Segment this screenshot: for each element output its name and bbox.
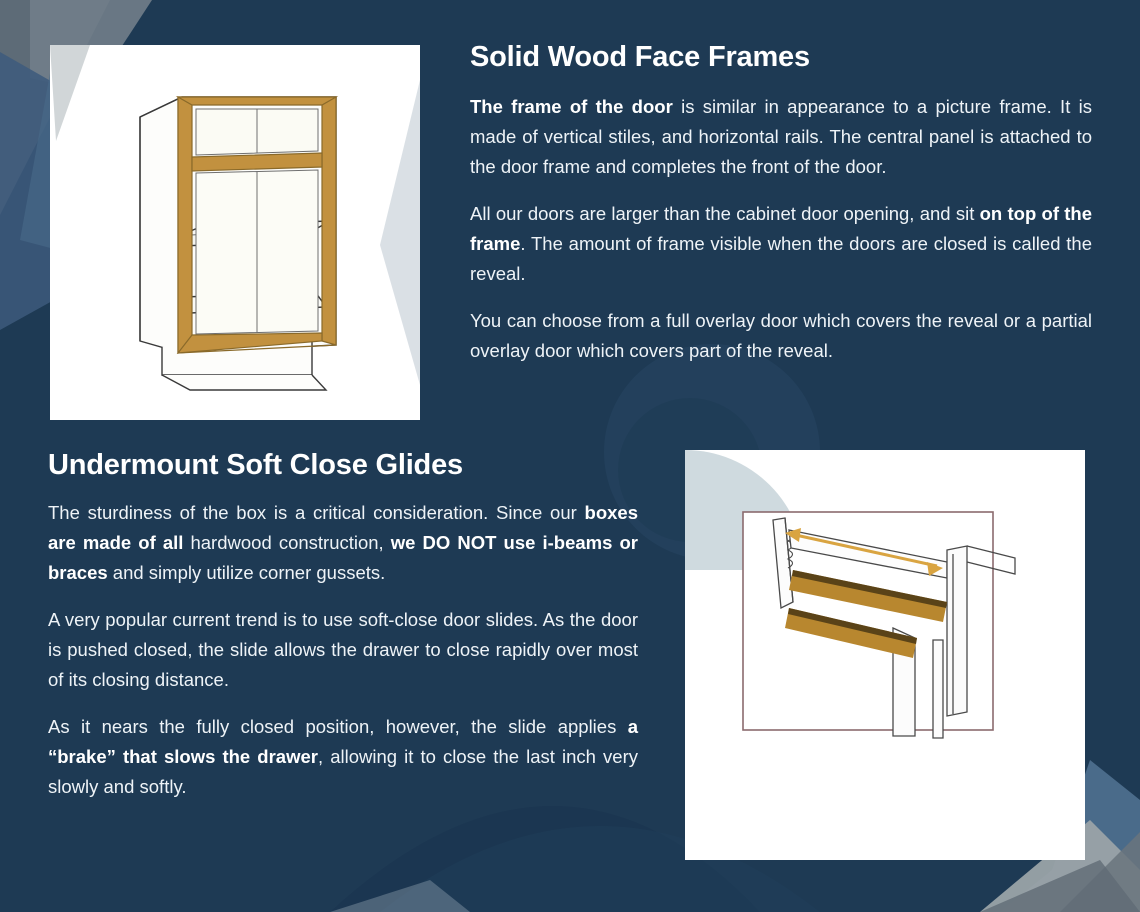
undermount-glide-image [685, 450, 1085, 860]
plain-text: As it nears the fully closed position, h… [48, 716, 628, 737]
face-frame-left-stile [178, 97, 192, 353]
paragraph: The sturdiness of the box is a critical … [48, 498, 638, 588]
plain-text: . The amount of frame visible when the d… [470, 233, 1092, 284]
decor-light-sliver-bottom [330, 880, 470, 912]
decor-gray-wedge-bottom-center [980, 860, 1140, 912]
cabinet-face-frame-image [50, 45, 420, 420]
plain-text: hardwood construction, [183, 532, 390, 553]
plain-text: A very popular current trend is to use s… [48, 609, 638, 690]
face-frames-paragraphs: The frame of the door is similar in appe… [470, 92, 1092, 366]
plain-text: The sturdiness of the box is a critical … [48, 502, 585, 523]
soft-close-glides-text-column: Undermount Soft Close Glides The sturdin… [48, 448, 638, 802]
plain-text: You can choose from a full overlay door … [470, 310, 1092, 361]
face-frames-text-column: Solid Wood Face Frames The frame of the … [470, 40, 1092, 366]
face-frame-openings [196, 109, 318, 334]
paragraph: A very popular current trend is to use s… [48, 605, 638, 695]
face-frames-heading: Solid Wood Face Frames [470, 40, 1092, 74]
face-frame-right-stile [322, 97, 336, 345]
paragraph: All our doors are larger than the cabine… [470, 199, 1092, 289]
paragraph: You can choose from a full overlay door … [470, 306, 1092, 366]
slide-page: Solid Wood Face Frames The frame of the … [0, 0, 1140, 912]
plain-text: All our doors are larger than the cabine… [470, 203, 980, 224]
cabinet-toe-kick-line [162, 375, 326, 390]
emphasis-text: The frame of the door [470, 96, 673, 117]
soft-close-glides-paragraphs: The sturdiness of the box is a critical … [48, 498, 638, 802]
face-frame-top-rail [178, 97, 336, 105]
cabinet-side-panel [947, 546, 967, 716]
soft-close-glides-heading: Undermount Soft Close Glides [48, 448, 638, 482]
paragraph: As it nears the fully closed position, h… [48, 712, 638, 802]
cabinet-stile-lower-2 [933, 640, 943, 738]
plain-text: and simply utilize corner gussets. [108, 562, 386, 583]
paragraph: The frame of the door is similar in appe… [470, 92, 1092, 182]
